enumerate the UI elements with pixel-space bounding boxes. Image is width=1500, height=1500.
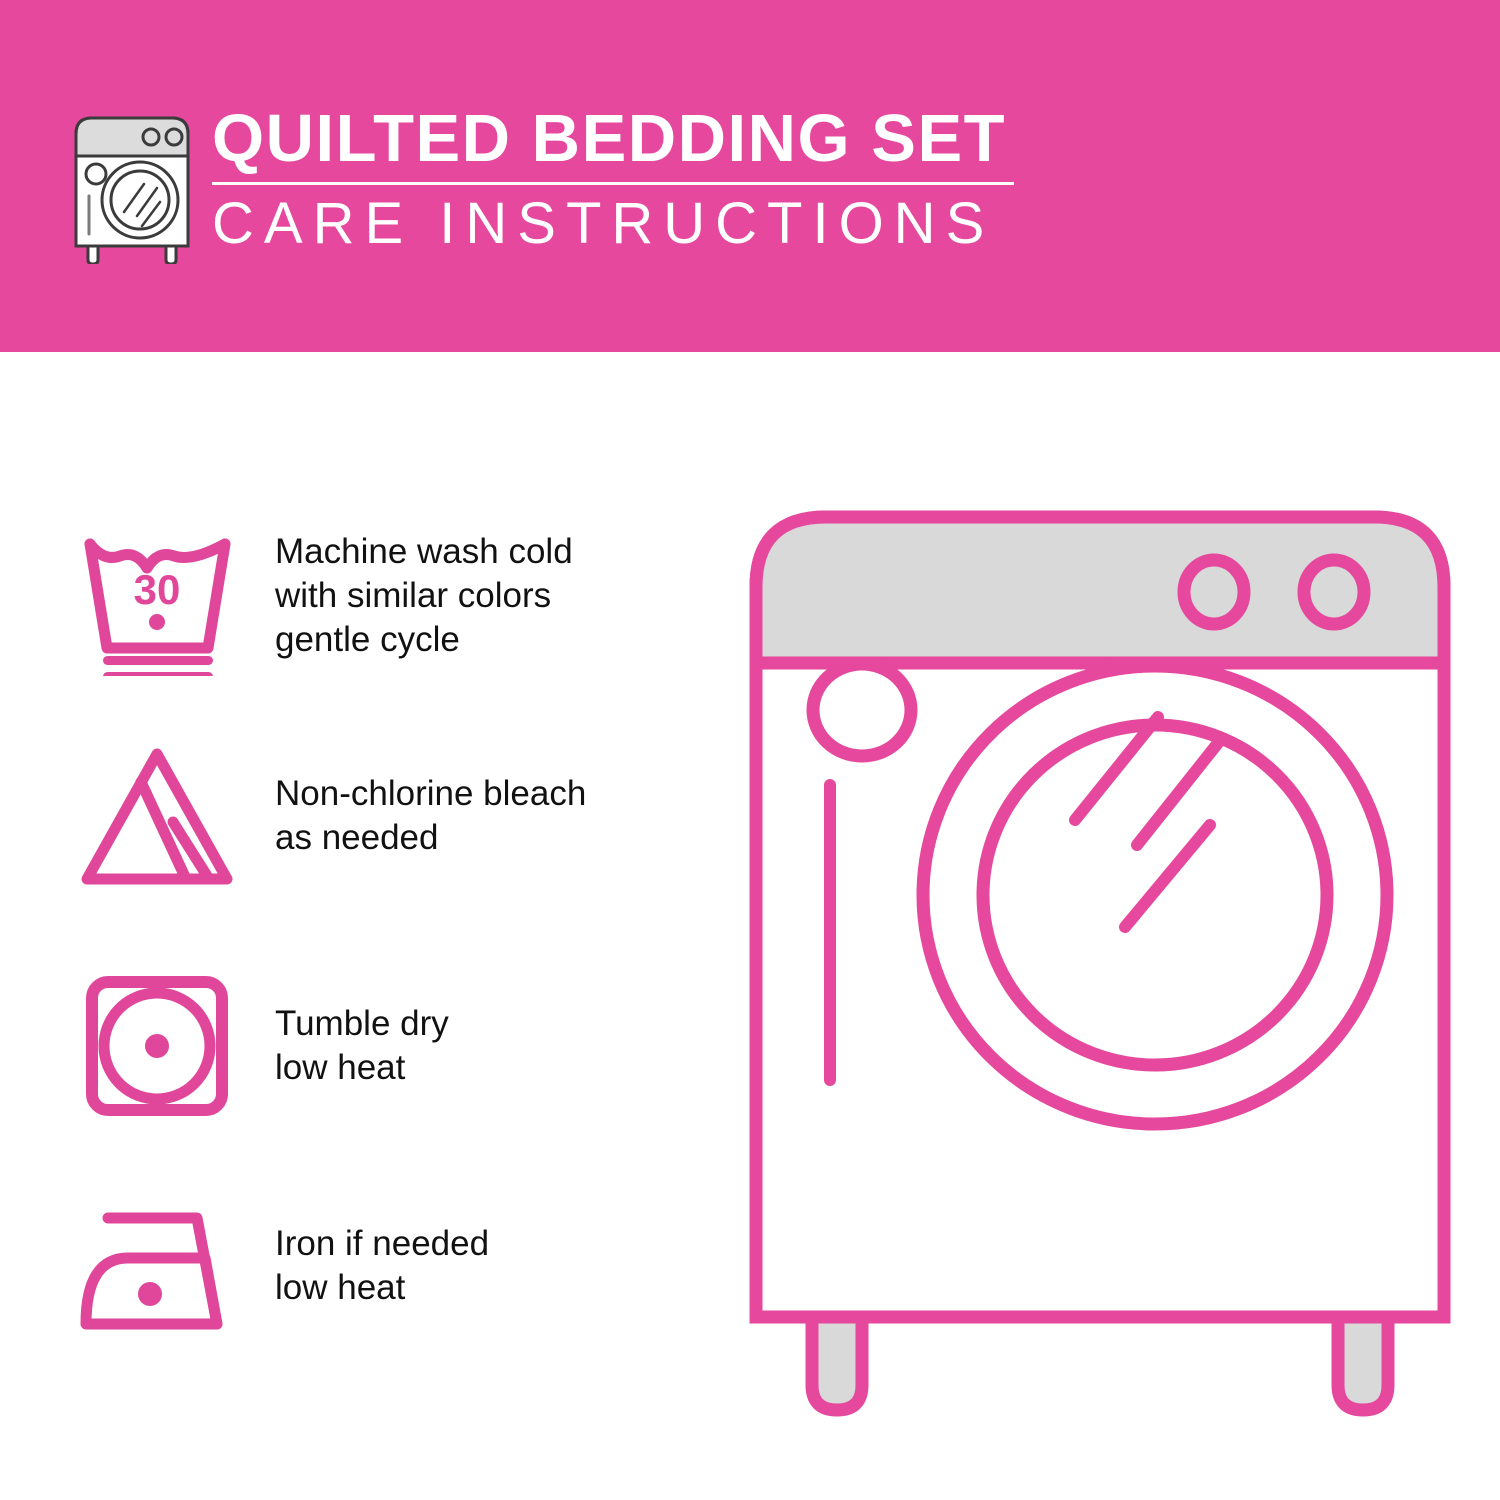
care-label-tumble-dry: Tumble dry low heat [275,1002,449,1090]
care-label-iron: Iron if needed low heat [275,1222,489,1310]
tumble-dry-low-icon [70,966,245,1126]
title-divider [212,182,1014,185]
care-row-tumble-dry: Tumble dry low heat [70,966,710,1126]
care-label-wash: Machine wash cold with similar colors ge… [275,530,573,662]
wash-temperature-value: 30 [134,566,181,613]
iron-low-heat-icon [70,1186,245,1346]
non-chlorine-bleach-triangle-icon [70,736,245,896]
wash-tub-30-gentle-icon: 30 [70,516,245,676]
care-label-bleach: Non-chlorine bleach as needed [275,772,586,860]
page-title: QUILTED BEDDING SET [212,100,1022,178]
care-row-bleach: Non-chlorine bleach as needed [70,736,710,896]
care-row-wash: 30 Machine wash cold with similar colors… [70,516,710,676]
washing-machine-illustration [740,495,1460,1435]
leg-right [1338,1317,1388,1410]
leg-left [812,1317,862,1410]
care-row-iron: Iron if needed low heat [70,1186,710,1346]
header-banner: QUILTED BEDDING SET CARE INSTRUCTIONS [0,0,1500,352]
care-instructions-page: QUILTED BEDDING SET CARE INSTRUCTIONS 30… [0,0,1500,1500]
washing-machine-icon [62,104,202,264]
header-text-block: QUILTED BEDDING SET CARE INSTRUCTIONS [212,100,1022,257]
page-subtitle: CARE INSTRUCTIONS [212,191,1022,257]
